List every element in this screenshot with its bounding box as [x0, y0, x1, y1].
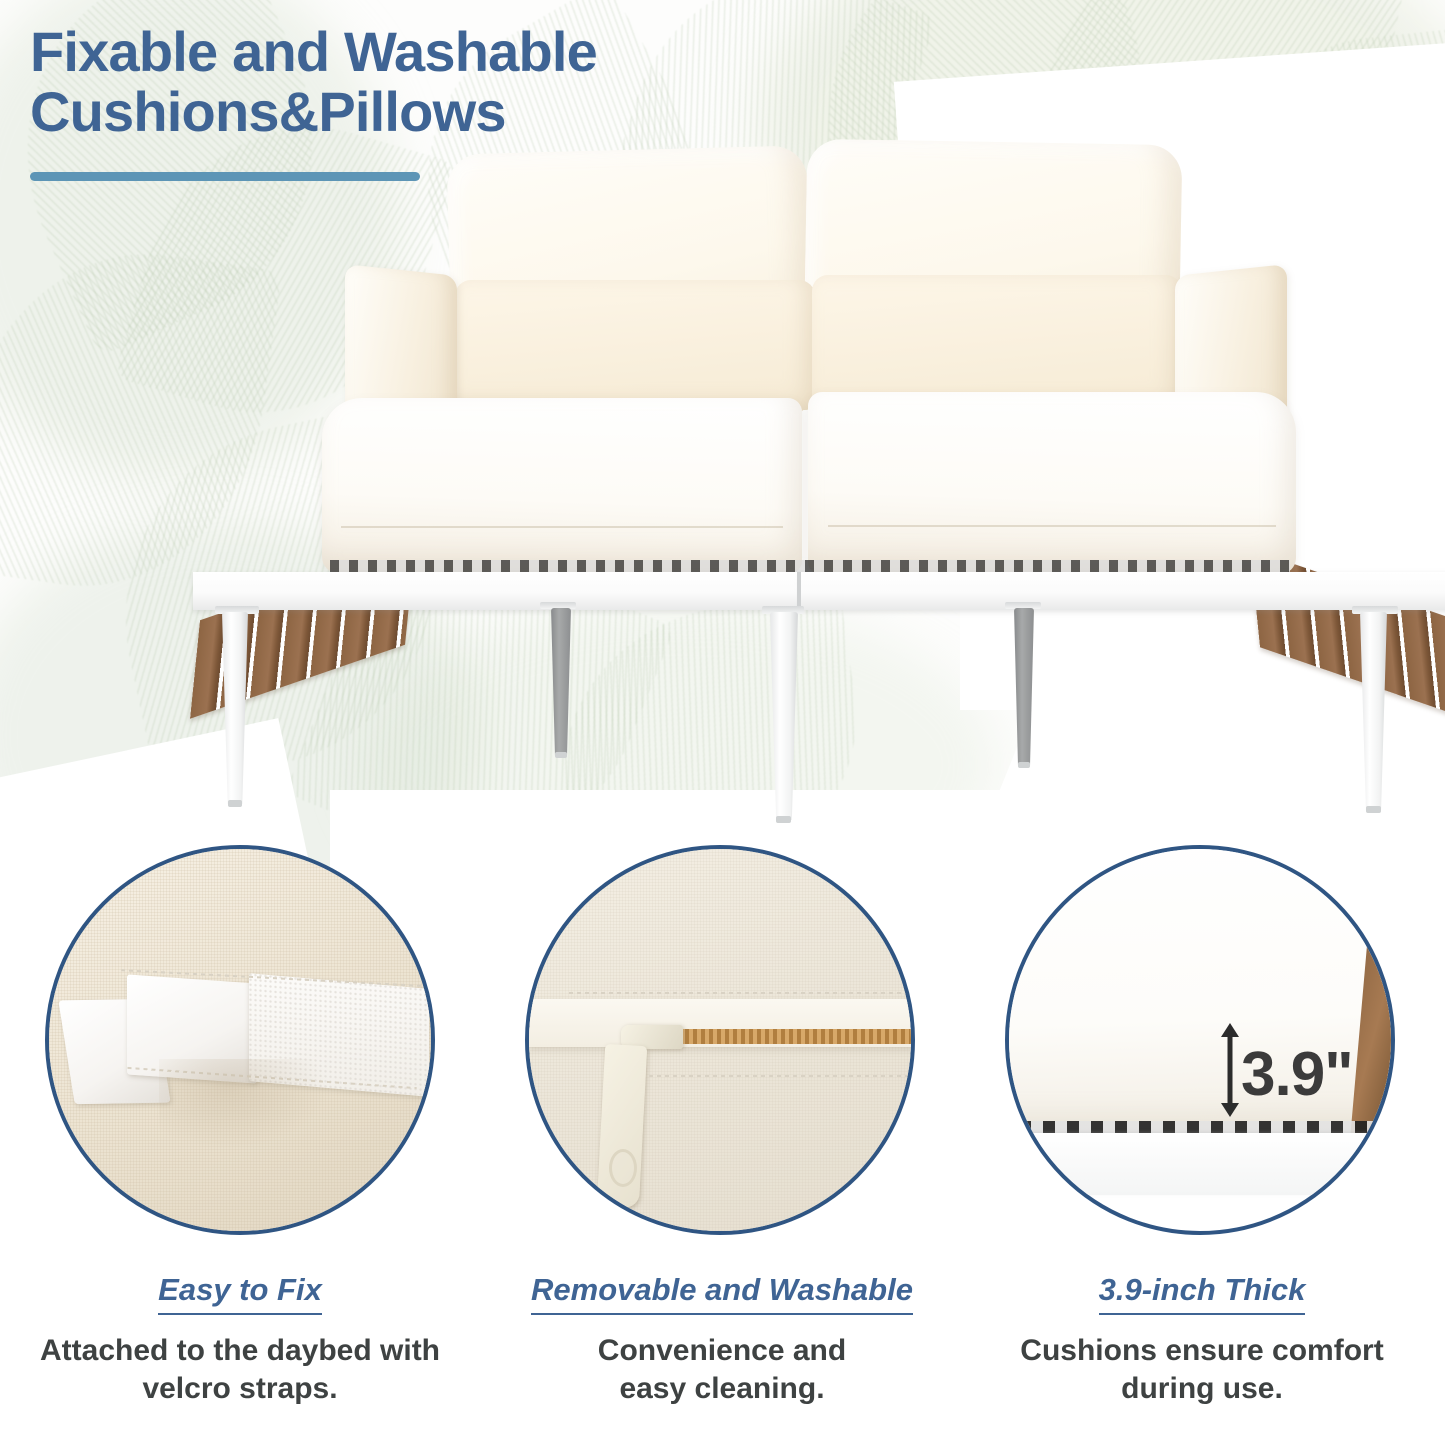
frame-slat-gaps — [330, 560, 1290, 572]
frame-rail-left — [193, 572, 798, 610]
leg-cap-front-right — [1366, 806, 1381, 813]
caption-removable-washable: Removable and Washable Convenience and e… — [482, 1272, 962, 1409]
leg-cap-front-left — [228, 800, 242, 807]
title-block: Fixable and Washable Cushions&Pillows — [30, 22, 597, 181]
zip-stitch-lower — [649, 1075, 915, 1077]
zipper-teeth — [677, 1029, 915, 1044]
leg-bracket-2 — [540, 602, 576, 609]
feature-image-removable-washable — [525, 845, 915, 1235]
leg-cap-rear-center — [1018, 762, 1030, 768]
leg-cap-rear-left — [555, 752, 567, 758]
caption-thickness: 3.9-inch Thick Cushions ensure comfort d… — [962, 1272, 1442, 1409]
leg-rear-center — [1014, 608, 1034, 766]
dimension-label: 3.9" — [1241, 1039, 1353, 1110]
leg-cap-front-center — [776, 816, 791, 823]
zip-stitch-upper — [569, 992, 915, 994]
zipper-pull-hole — [609, 1149, 637, 1187]
seat-cushion-left — [322, 398, 802, 573]
title-underline-rule — [30, 172, 420, 181]
page-title: Fixable and Washable Cushions&Pillows — [30, 22, 597, 142]
leg-rear-left — [551, 608, 571, 756]
caption-easy-to-fix: Easy to Fix Attached to the daybed with … — [0, 1272, 480, 1409]
hero-product-image — [0, 120, 1445, 840]
leg-front-right — [1360, 612, 1387, 810]
back-cushion-left — [455, 280, 815, 410]
dimension-arrow-icon — [1217, 1023, 1243, 1117]
caption-heading-easy-to-fix: Easy to Fix — [158, 1272, 322, 1315]
feature-image-easy-to-fix — [45, 845, 435, 1235]
leg-bracket-4 — [1005, 602, 1041, 609]
frame-rail-right — [800, 572, 1445, 610]
seat-cushion-right — [808, 392, 1296, 574]
caption-heading-removable-washable: Removable and Washable — [531, 1272, 913, 1315]
leg-front-left — [222, 612, 248, 804]
caption-heading-thickness: 3.9-inch Thick — [1099, 1272, 1306, 1315]
leg-front-center — [770, 612, 798, 820]
caption-body-thickness: Cushions ensure comfort during use. — [962, 1332, 1442, 1409]
fabric-shadow — [159, 1059, 329, 1149]
frame-seam-center — [797, 572, 801, 610]
frame-base-rail — [1005, 1133, 1395, 1195]
back-cushion-right — [812, 275, 1182, 410]
feature-image-thickness: 3.9" — [1005, 845, 1395, 1235]
frame-slat-gaps-detail — [1019, 1121, 1395, 1133]
caption-body-removable-washable: Convenience and easy cleaning. — [482, 1332, 962, 1409]
caption-body-easy-to-fix: Attached to the daybed with velcro strap… — [0, 1332, 480, 1409]
